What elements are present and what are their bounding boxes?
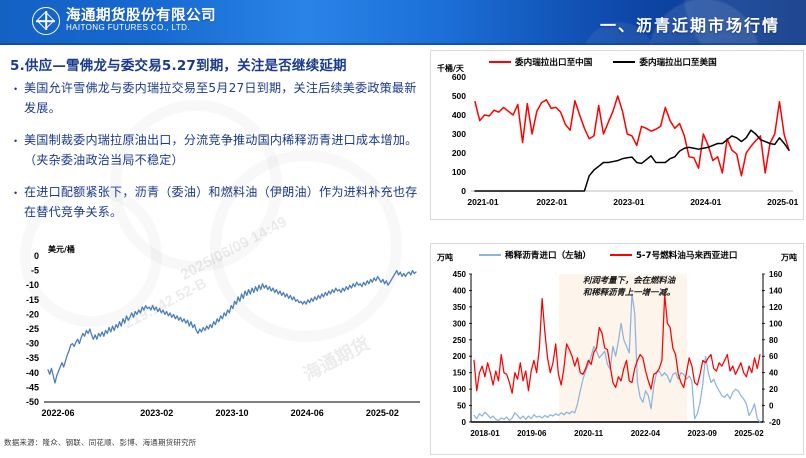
header-title: 一、沥青近期市场行情 xyxy=(600,12,780,36)
bullet-marker-icon: • xyxy=(14,189,24,198)
svg-text:200: 200 xyxy=(453,352,467,361)
list-item: • 美国制裁委内瑞拉原油出口，分流竞争推动国内稀释沥青进口成本增加。（夹杂委油政… xyxy=(14,131,418,170)
svg-text:2024-06: 2024-06 xyxy=(291,408,324,418)
legend-swatch-line xyxy=(613,61,635,64)
chart3-annotation: 利润考量下，会在燃料油和稀释沥青上一增一减。 xyxy=(583,274,679,298)
svg-text:350: 350 xyxy=(453,303,467,312)
logo-company-name-cn: 海通期货股份有限公司 xyxy=(66,9,216,24)
svg-text:100: 100 xyxy=(453,385,467,394)
svg-text:-10: -10 xyxy=(26,280,39,290)
svg-text:-20: -20 xyxy=(26,309,39,319)
chart-venezuela-crude-exports: 千桶/天 委内瑞拉出口至中国 委内瑞拉出口至美国 600500400300200… xyxy=(430,50,804,220)
svg-text:2023-01: 2023-01 xyxy=(613,197,644,207)
svg-text:400: 400 xyxy=(452,110,466,120)
chart2-legend: 委内瑞拉出口至中国 委内瑞拉出口至美国 xyxy=(489,56,717,68)
left-content-column: 2025/06/09 14:49 219.142.52-B 海通期货 5.供应—… xyxy=(0,45,428,458)
svg-text:50: 50 xyxy=(457,402,466,411)
svg-text:2023-10: 2023-10 xyxy=(215,408,248,418)
svg-text:-15: -15 xyxy=(26,295,39,305)
svg-text:2025-01: 2025-01 xyxy=(767,197,798,207)
svg-text:2021-01: 2021-01 xyxy=(467,197,498,207)
list-item: • 在进口配额紧张下，沥青（委油）和燃料油（伊朗油）作为进料补充也存在替代竞争关… xyxy=(14,183,418,222)
svg-text:0: 0 xyxy=(769,402,774,411)
svg-text:2022-04: 2022-04 xyxy=(631,429,661,438)
slide-header: 海通期货股份有限公司 HAITONG FUTURES CO., LTD. 一、沥… xyxy=(0,0,806,45)
source-note: 数据来源：隆众、钢联、同花顺、彭博、海通期货研究所 xyxy=(4,437,197,448)
svg-text:2025-02: 2025-02 xyxy=(734,429,764,438)
svg-text:2023-02: 2023-02 xyxy=(140,408,173,418)
svg-text:-5: -5 xyxy=(31,266,39,276)
svg-text:80: 80 xyxy=(769,336,778,345)
chart3-legend: 稀释沥青进口（左轴） 5-7号燃料油马来西亚进口 xyxy=(479,249,737,261)
svg-text:250: 250 xyxy=(453,336,467,345)
svg-text:2020-11: 2020-11 xyxy=(574,429,603,438)
svg-text:100: 100 xyxy=(452,167,466,177)
svg-text:450: 450 xyxy=(453,270,467,279)
svg-text:500: 500 xyxy=(452,91,466,101)
page-title: 5.供应—雪佛龙与委交易5.27到期，关注是否继续延期 xyxy=(10,54,422,74)
svg-text:120: 120 xyxy=(769,303,783,312)
svg-text:2023-09: 2023-09 xyxy=(688,429,718,438)
svg-text:-30: -30 xyxy=(26,339,39,349)
svg-text:100: 100 xyxy=(769,319,783,328)
logo-company-name-en: HAITONG FUTURES CO., LTD. xyxy=(66,24,216,32)
svg-text:0: 0 xyxy=(462,418,467,427)
bullet-text: 在进口配额紧张下，沥青（委油）和燃料油（伊朗油）作为进料补充也存在替代竞争关系。 xyxy=(24,183,418,222)
slide-root: 海通期货股份有限公司 HAITONG FUTURES CO., LTD. 一、沥… xyxy=(0,0,806,458)
legend-label: 委内瑞拉出口至中国 xyxy=(515,56,592,68)
legend-label: 委内瑞拉出口至美国 xyxy=(639,56,716,68)
svg-text:2019-06: 2019-06 xyxy=(517,429,547,438)
company-logo: 海通期货股份有限公司 HAITONG FUTURES CO., LTD. xyxy=(32,7,216,35)
bullet-list: • 美国允许雪佛龙与委内瑞拉交易至5月27日到期，关注后续美委政策最新发展。 •… xyxy=(14,79,418,235)
chart-diluted-bitumen-crack-spread: 美元/桶 0-5-10-15-20-25-30-35-40-45-502022-… xyxy=(0,240,428,436)
bullet-text: 美国制裁委内瑞拉原油出口，分流竞争推动国内稀释沥青进口成本增加。（夹杂委油政治当… xyxy=(24,131,418,170)
svg-text:0: 0 xyxy=(34,251,39,261)
svg-text:140: 140 xyxy=(769,286,783,295)
bullet-marker-icon: • xyxy=(14,85,24,94)
svg-text:200: 200 xyxy=(452,148,466,158)
legend-label: 稀释沥青进口（左轴） xyxy=(505,249,591,261)
chart1-y-unit: 美元/桶 xyxy=(48,244,75,255)
bullet-marker-icon: • xyxy=(14,137,24,146)
svg-text:-20: -20 xyxy=(769,418,781,427)
chart2-y-unit: 千桶/天 xyxy=(437,63,464,74)
svg-text:20: 20 xyxy=(769,385,778,394)
svg-text:300: 300 xyxy=(452,129,466,139)
bullet-text: 美国允许雪佛龙与委内瑞拉交易至5月27日到期，关注后续美委政策最新发展。 xyxy=(24,79,418,118)
svg-text:400: 400 xyxy=(453,286,467,295)
svg-text:2024-01: 2024-01 xyxy=(690,197,721,207)
legend-label: 5-7号燃料油马来西亚进口 xyxy=(636,249,737,261)
svg-text:150: 150 xyxy=(453,369,467,378)
legend-item-diluted-bitumen-import[interactable]: 稀释沥青进口（左轴） xyxy=(479,249,591,261)
chart3-y-unit-left: 万吨 xyxy=(437,252,453,263)
legend-item-fueloil-malaysia-import[interactable]: 5-7号燃料油马来西亚进口 xyxy=(610,249,737,261)
svg-text:-35: -35 xyxy=(26,353,39,363)
svg-text:300: 300 xyxy=(453,319,467,328)
legend-swatch-line xyxy=(489,61,511,64)
svg-text:60: 60 xyxy=(769,352,778,361)
haitong-circular-logo-icon xyxy=(32,7,60,35)
svg-text:-45: -45 xyxy=(26,382,39,392)
legend-swatch-line xyxy=(479,254,501,257)
chart3-y-unit-right: 万吨 xyxy=(781,252,797,263)
svg-text:-40: -40 xyxy=(26,368,39,378)
svg-text:-50: -50 xyxy=(26,397,39,407)
svg-text:2018-01: 2018-01 xyxy=(470,429,500,438)
legend-item-venezuela-to-usa[interactable]: 委内瑞拉出口至美国 xyxy=(613,56,716,68)
svg-text:40: 40 xyxy=(769,369,778,378)
svg-text:2022-06: 2022-06 xyxy=(41,408,74,418)
legend-swatch-line xyxy=(610,254,632,257)
svg-text:2022-01: 2022-01 xyxy=(536,197,567,207)
svg-text:2025-02: 2025-02 xyxy=(366,408,399,418)
chart-bitumen-vs-fueloil-imports: 万吨 万吨 稀释沥青进口（左轴） 5-7号燃料油马来西亚进口 利润考量下，会在燃… xyxy=(430,243,804,455)
legend-item-venezuela-to-china[interactable]: 委内瑞拉出口至中国 xyxy=(489,56,592,68)
svg-text:-25: -25 xyxy=(26,324,39,334)
chart2-canvas: 60050040030020010002021-012022-012023-01… xyxy=(431,51,803,219)
svg-text:0: 0 xyxy=(461,186,466,196)
list-item: • 美国允许雪佛龙与委内瑞拉交易至5月27日到期，关注后续美委政策最新发展。 xyxy=(14,79,418,118)
svg-text:160: 160 xyxy=(769,270,783,279)
chart1-canvas: 0-5-10-15-20-25-30-35-40-45-502022-06202… xyxy=(0,240,428,436)
